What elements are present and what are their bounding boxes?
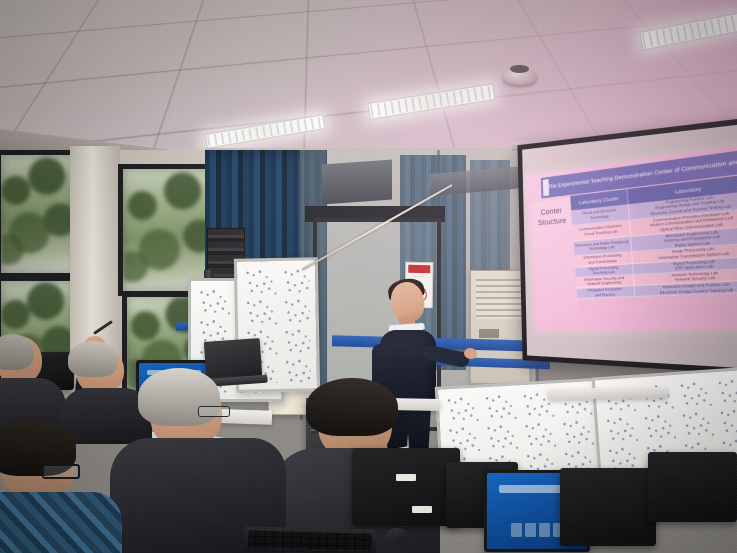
desktop-monitor-rear xyxy=(352,448,460,526)
keyboard[interactable] xyxy=(244,526,377,553)
desktop-monitor-rear xyxy=(560,468,656,546)
ac-control-panel[interactable] xyxy=(479,329,499,338)
slide-table: Laboratory Cluster Laboratory Circuit an… xyxy=(571,174,737,323)
foliage-view xyxy=(1,155,75,273)
attendee-hair xyxy=(68,341,118,377)
desk xyxy=(548,387,668,400)
glasses-icon xyxy=(198,406,230,417)
smoke-detector-icon xyxy=(503,68,537,85)
attendee-hair xyxy=(306,378,398,436)
ac-vents xyxy=(476,279,524,319)
asset-label xyxy=(412,506,432,513)
projection-screen: The Experimental Teaching Demonstration … xyxy=(517,116,737,376)
air-duct xyxy=(322,160,392,205)
cell-cluster: Integrated Innovationand Practice xyxy=(577,286,635,298)
attendee-hair xyxy=(138,368,220,426)
presentation-slide: The Experimental Teaching Demonstration … xyxy=(525,142,737,331)
mouse[interactable] xyxy=(386,528,408,543)
window-pane xyxy=(0,150,80,278)
attendee-plaid-shirt xyxy=(0,428,120,553)
desktop-monitor-rear xyxy=(648,452,737,522)
attendee-grey-hair-left xyxy=(0,336,64,431)
screenshot-root: — — — The Experimental Teaching Demonstr… xyxy=(0,0,737,553)
projection-surface: The Experimental Teaching Demonstration … xyxy=(522,123,737,370)
asset-label xyxy=(396,474,416,481)
glasses-icon xyxy=(42,464,80,479)
attendee-plaid-shirt-body xyxy=(0,492,122,553)
sign-red-bar xyxy=(408,265,430,273)
